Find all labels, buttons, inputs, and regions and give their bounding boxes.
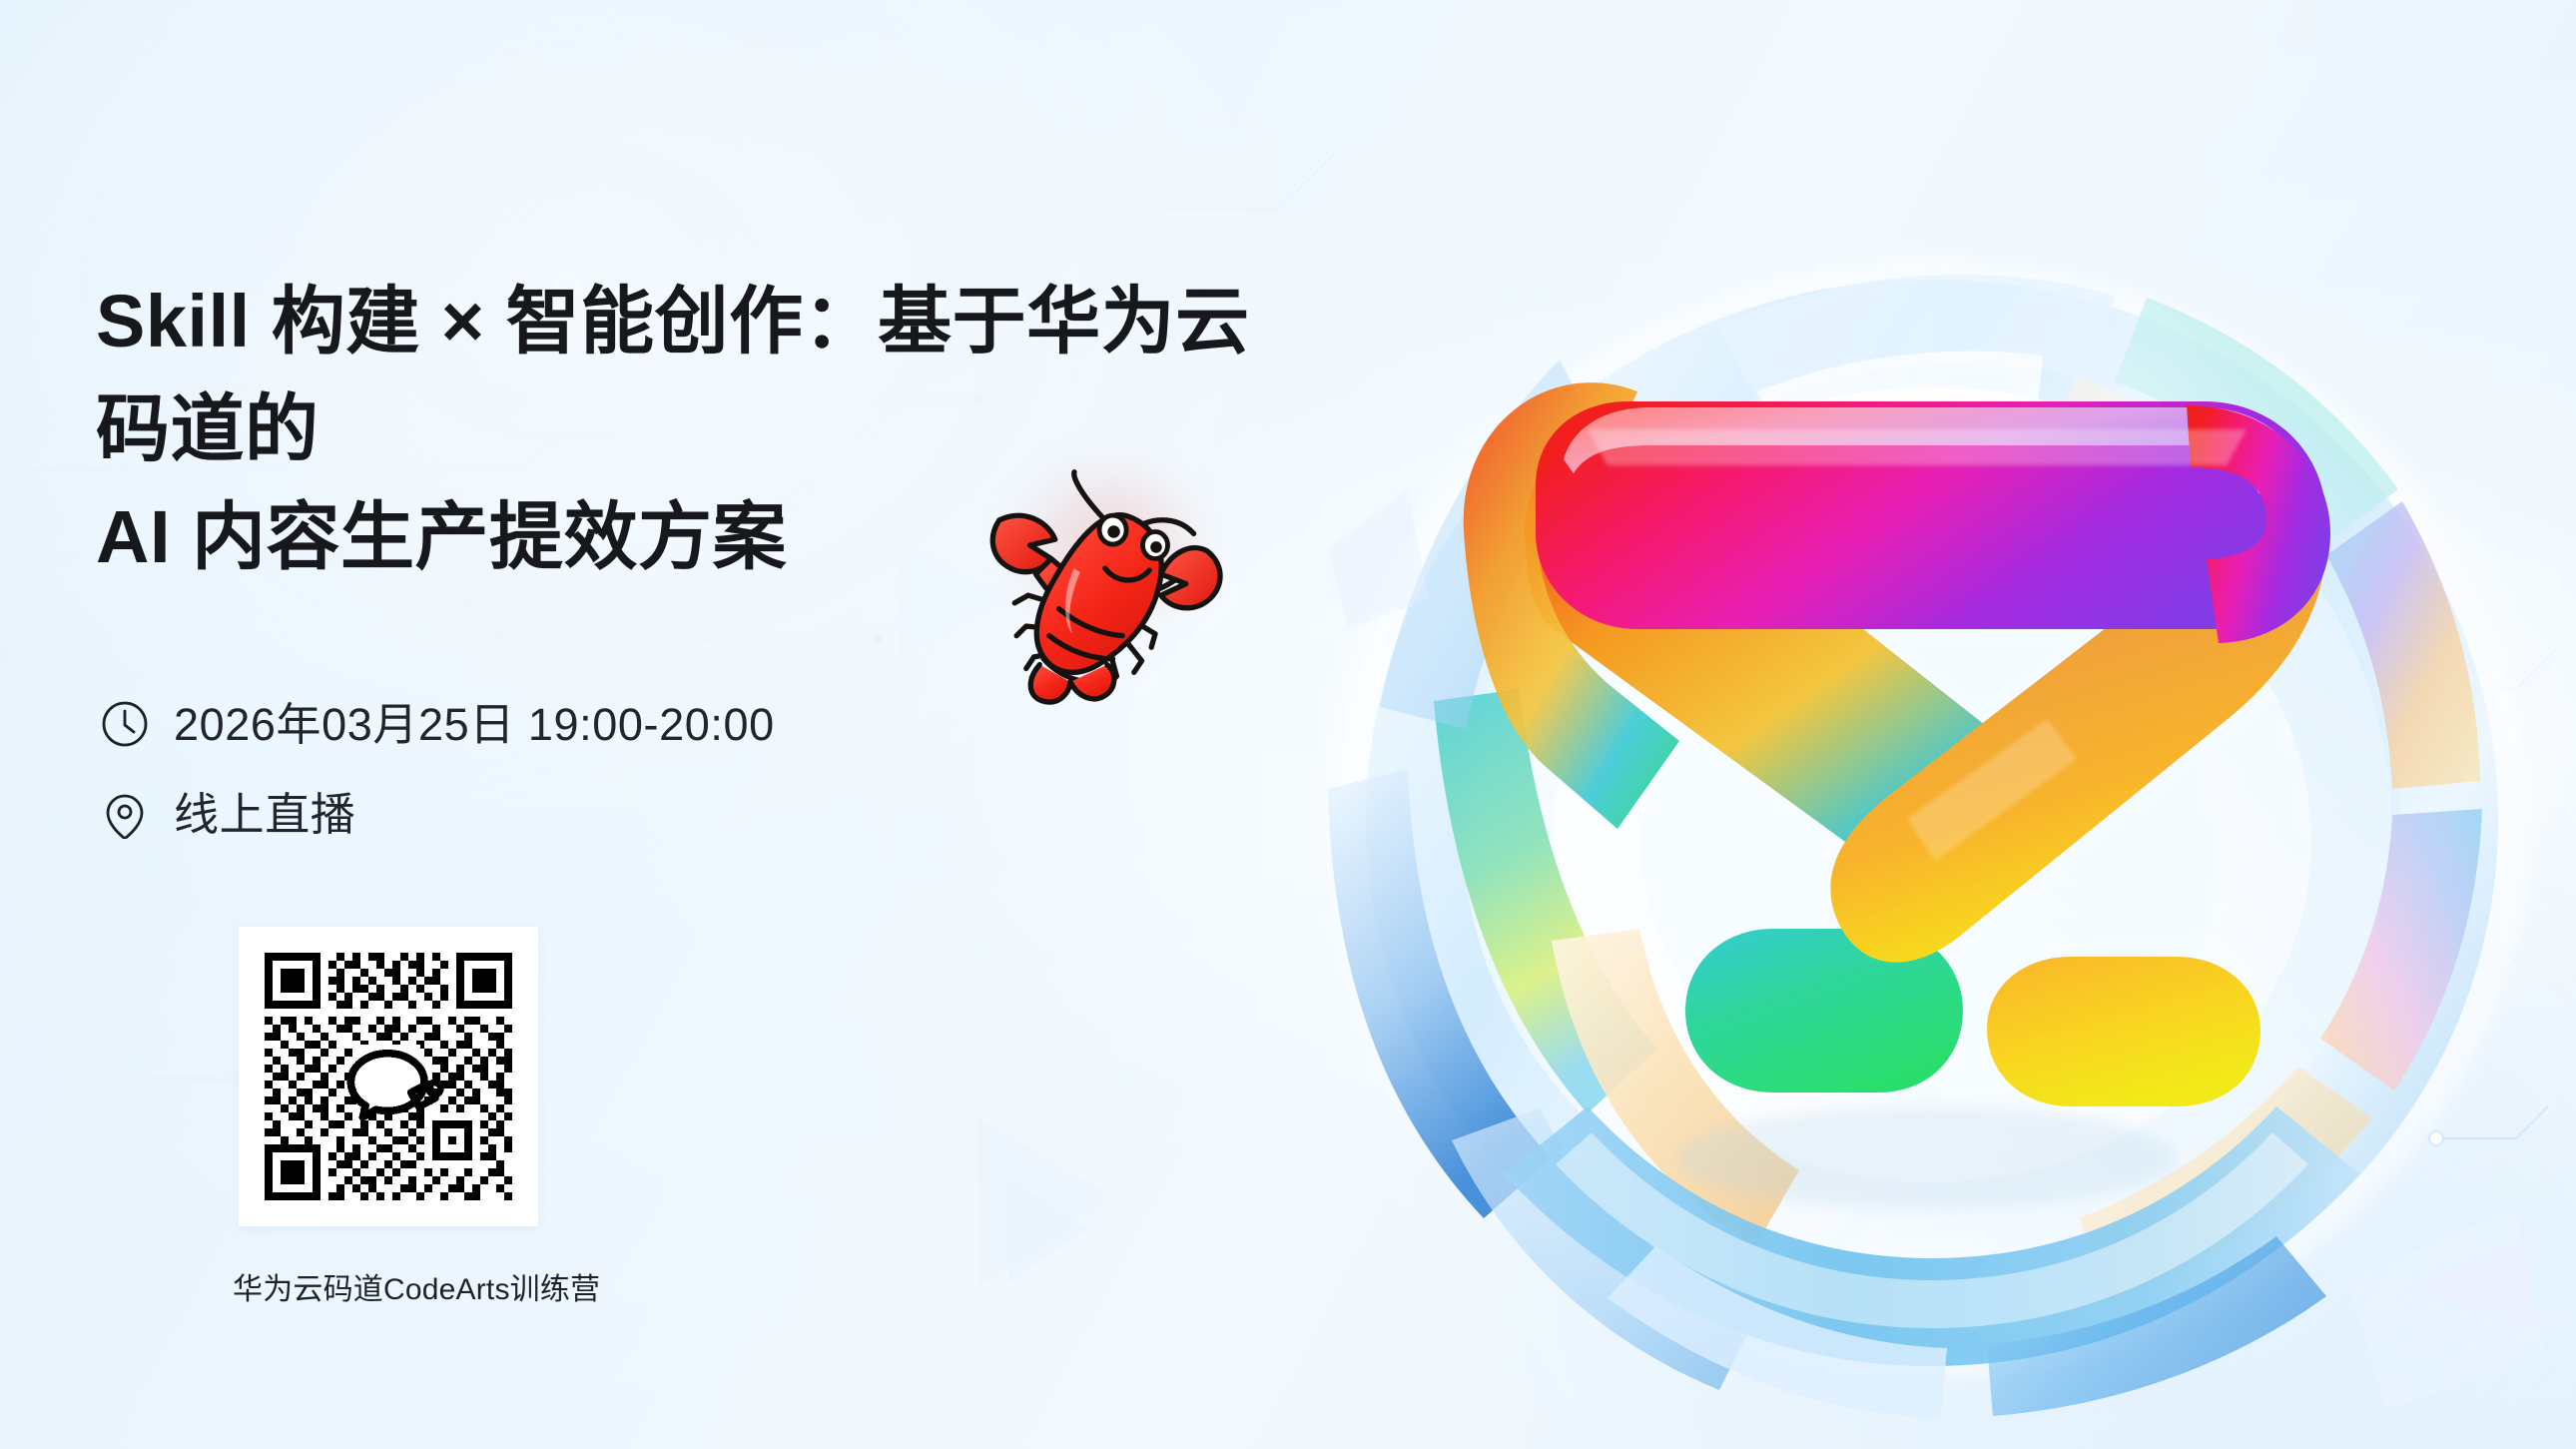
event-datetime-text: 2026年03月25日 19:00-20:00 — [174, 702, 775, 747]
codearts-3d-artwork — [1288, 130, 2576, 1449]
location-pin-icon — [100, 789, 150, 839]
page-title: Skill 构建 × 智能创作：基于华为云码道的 AI 内容生产提效方案 — [96, 268, 1254, 591]
qr-caption: 华为云码道CodeArts训练营 — [233, 1264, 532, 1308]
event-meta: 2026年03月25日 19:00-20:00 线上直播 — [100, 699, 1098, 879]
content-column: Skill 构建 × 智能创作：基于华为云码道的 AI 内容生产提效方案 202… — [0, 0, 1278, 1449]
webinar-banner: Skill 构建 × 智能创作：基于华为云码道的 AI 内容生产提效方案 202… — [0, 0, 2576, 1449]
event-location-row: 线上直播 — [100, 789, 1098, 839]
clock-icon — [100, 699, 150, 749]
background-glow-right — [1417, 695, 2576, 1449]
event-location-text: 线上直播 — [174, 792, 355, 837]
qr-code[interactable] — [239, 927, 538, 1226]
qr-block: 华为云码道CodeArts训练营 — [239, 927, 538, 1308]
event-datetime-row: 2026年03月25日 19:00-20:00 — [100, 699, 1098, 749]
